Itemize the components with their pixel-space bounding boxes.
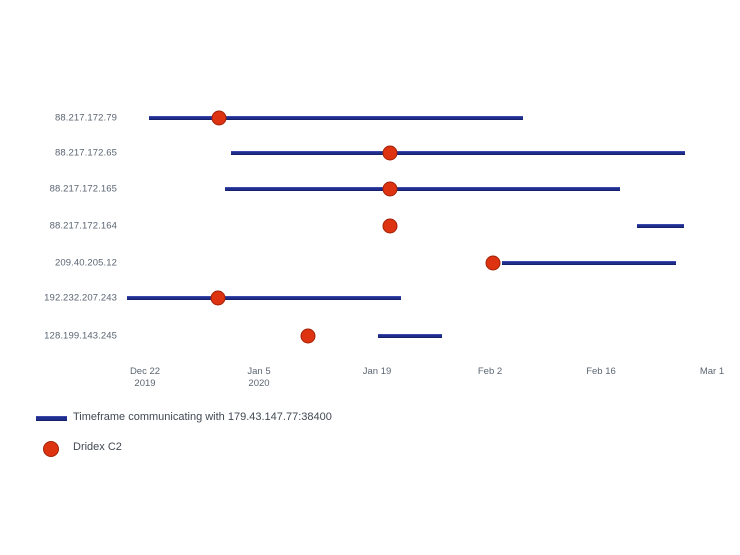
timeframe-bar xyxy=(502,261,676,265)
timeline-plot-area: 88.217.172.7988.217.172.6588.217.172.165… xyxy=(0,0,740,400)
timeframe-bar xyxy=(225,187,620,191)
timeframe-bar xyxy=(231,151,685,155)
legend-item-timeframe: Timeframe communicating with 179.43.147.… xyxy=(34,410,534,440)
x-axis: Dec 222019Jan 52020Jan 19Feb 2Feb 16Mar … xyxy=(0,366,740,402)
legend-line-swatch-icon xyxy=(36,416,67,421)
dridex-c2-marker xyxy=(486,256,501,271)
legend-timeframe-label: Timeframe communicating with 179.43.147.… xyxy=(73,411,332,423)
legend-dridex-c2-label: Dridex C2 xyxy=(73,441,122,453)
legend-dot-swatch-icon xyxy=(43,441,59,457)
row-label-88.217.172.79: 88.217.172.79 xyxy=(0,113,117,124)
legend-item-dridex-c2: Dridex C2 xyxy=(34,440,534,470)
timeframe-bar xyxy=(378,334,442,338)
timeframe-bar xyxy=(149,116,523,120)
dridex-c2-marker xyxy=(301,329,316,344)
timeframe-bar xyxy=(637,224,684,228)
timeframe-bar xyxy=(127,296,401,300)
x-tick-label: Dec 222019 xyxy=(130,366,160,390)
dridex-c2-marker xyxy=(211,291,226,306)
dridex-c2-marker xyxy=(383,146,398,161)
x-tick-primary: Mar 1 xyxy=(700,366,724,377)
x-tick-year: 2019 xyxy=(130,378,160,390)
x-tick-year: 2020 xyxy=(247,378,270,390)
x-tick-primary: Feb 2 xyxy=(478,366,502,377)
dridex-c2-timeline-chart: 88.217.172.7988.217.172.6588.217.172.165… xyxy=(0,0,740,555)
x-tick-label: Jan 52020 xyxy=(247,366,270,390)
row-label-209.40.205.12: 209.40.205.12 xyxy=(0,258,117,269)
x-tick-label: Feb 2 xyxy=(478,366,502,378)
x-tick-label: Jan 19 xyxy=(363,366,392,378)
row-label-88.217.172.165: 88.217.172.165 xyxy=(0,184,117,195)
x-tick-primary: Feb 16 xyxy=(586,366,616,377)
x-tick-primary: Jan 19 xyxy=(363,366,392,377)
dridex-c2-marker xyxy=(212,111,227,126)
row-label-192.232.207.243: 192.232.207.243 xyxy=(0,293,117,304)
x-tick-primary: Dec 22 xyxy=(130,366,160,377)
dridex-c2-marker xyxy=(383,219,398,234)
chart-legend: Timeframe communicating with 179.43.147.… xyxy=(34,410,534,470)
x-tick-primary: Jan 5 xyxy=(247,366,270,377)
x-tick-label: Feb 16 xyxy=(586,366,616,378)
dridex-c2-marker xyxy=(383,182,398,197)
x-tick-label: Mar 1 xyxy=(700,366,724,378)
row-label-88.217.172.164: 88.217.172.164 xyxy=(0,221,117,232)
row-label-88.217.172.65: 88.217.172.65 xyxy=(0,148,117,159)
row-label-128.199.143.245: 128.199.143.245 xyxy=(0,331,117,342)
